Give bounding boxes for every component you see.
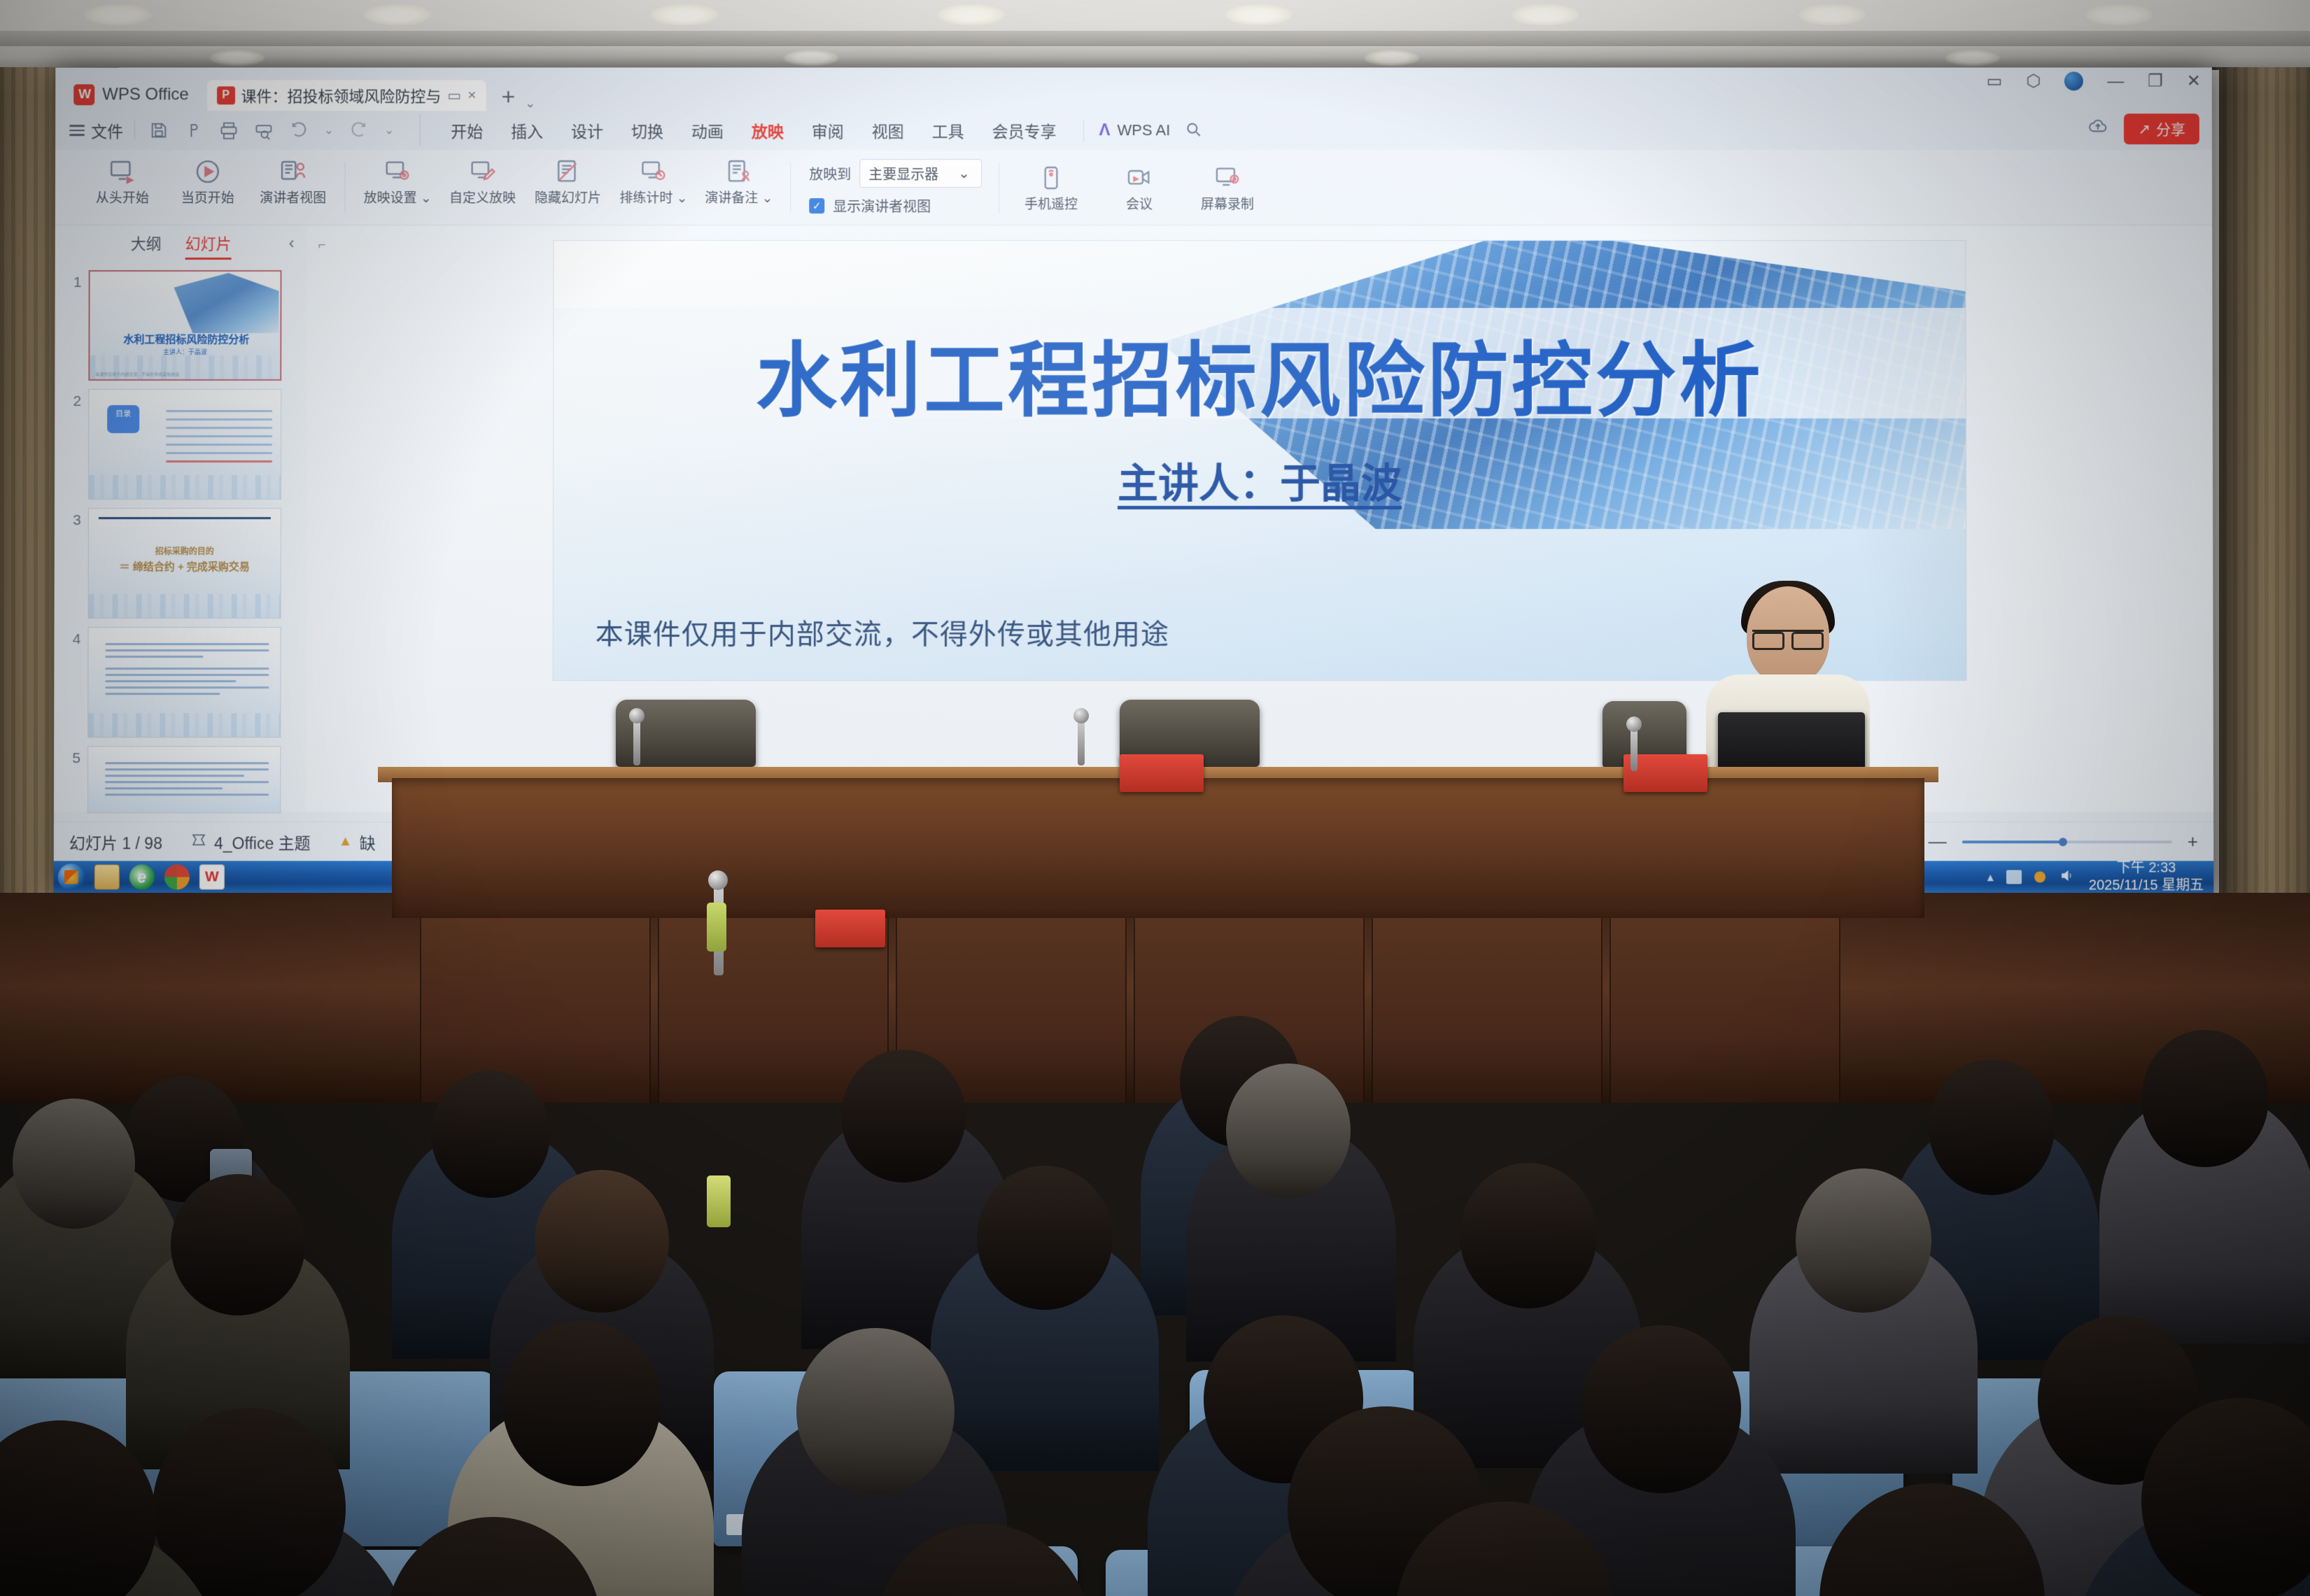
ceiling-light (1512, 4, 1579, 25)
wps-brand: W WPS Office (71, 84, 207, 111)
slide-number: 1 (58, 270, 82, 291)
close-tab-icon[interactable]: × (467, 87, 476, 104)
meeting-label: 会议 (1126, 197, 1153, 212)
zoom-out-button[interactable]: — (1929, 831, 1947, 852)
play-from-start-label: 从头开始 (96, 191, 149, 206)
zoom-in-button[interactable]: + (2188, 831, 2198, 852)
tab-review[interactable]: 审阅 (798, 114, 858, 146)
conference-room-photo: W WPS Office P 课件：招投标领域风险防控与 ▭ × + ⌄ ▭ ⬡… (0, 0, 2310, 1596)
minimize-button[interactable]: — (2107, 73, 2124, 90)
custom-show-button[interactable]: 自定义放映 (449, 155, 516, 206)
thumb-skyline (89, 475, 281, 499)
microphone (1078, 719, 1085, 765)
tab-animation[interactable]: 动画 (677, 114, 738, 146)
cursor-marker-icon: ⌐ (318, 238, 326, 253)
thumb-footer: 本课件仅用于内部交流，不得外传或其他用途 (95, 371, 179, 377)
display-target-select[interactable]: 主要显示器 ⌄ (859, 159, 982, 188)
hide-slide-icon (535, 155, 602, 188)
wps-title-bar: W WPS Office P 课件：招投标领域风险防控与 ▭ × + ⌄ ▭ ⬡… (55, 68, 2212, 111)
qat-caret-icon[interactable]: ⌄ (384, 123, 394, 137)
ceiling-light (651, 4, 718, 25)
tab-slideshow[interactable]: 放映 (738, 114, 798, 146)
hide-slide-label: 隐藏幻灯片 (535, 191, 601, 206)
slide-disclaimer[interactable]: 本课件仅用于内部交流，不得外传或其他用途 (596, 612, 1169, 652)
audience-person-head (841, 1050, 966, 1182)
slide-number: 5 (57, 746, 80, 767)
theme-icon (190, 831, 207, 852)
list-item[interactable]: 5 (54, 742, 306, 817)
document-tab[interactable]: P 课件：招投标领域风险防控与 ▭ × (207, 80, 486, 111)
presenter-view-button[interactable]: 演讲者视图 (260, 155, 327, 206)
tab-member[interactable]: 会员专享 (978, 114, 1071, 146)
window-controls: ▭ ⬡ — ❐ ✕ (1987, 72, 2201, 91)
volume-icon[interactable] (2058, 868, 2076, 887)
tab-design[interactable]: 设计 (557, 114, 617, 146)
display-target-value: 主要显示器 (868, 163, 938, 183)
speaker-notes-button[interactable]: 演讲备注 ⌄ (705, 155, 772, 206)
audience-person-head (431, 1071, 550, 1198)
hide-slide-button[interactable]: 隐藏幻灯片 (534, 155, 601, 206)
chevron-down-icon: ⌄ (958, 164, 970, 182)
tab-start[interactable]: 开始 (437, 114, 497, 146)
ceiling-light (364, 4, 431, 25)
thumb-text-lines (105, 639, 269, 699)
audience-person-head (1460, 1163, 1597, 1308)
share-label: 分享 (2156, 118, 2185, 139)
zoom-slider-fill (1962, 840, 2060, 843)
thumb-text-lines (105, 758, 269, 800)
rehearse-timings-button[interactable]: 排练计时 ⌄ (619, 155, 686, 206)
nameplate (1120, 754, 1204, 792)
360-browser-icon[interactable] (164, 864, 190, 889)
screen-record-icon (1194, 162, 1261, 194)
thumb-title: 水利工程招标风险防控分析 (99, 332, 273, 346)
slide-subtitle[interactable]: 主讲人：于晶波 (554, 451, 1966, 509)
ribbon-group-start: 从头开始 当页开始 (71, 155, 345, 220)
audience-person-head (977, 1166, 1113, 1310)
ceiling-light (938, 4, 1005, 25)
search-icon[interactable] (1184, 120, 1202, 141)
audience-person-head (1796, 1168, 1931, 1313)
presenter-view-label: 演讲者视图 (260, 191, 326, 206)
speaker-notes-icon (705, 155, 772, 188)
display-target-label: 放映到 (809, 163, 851, 183)
ceiling-light (1225, 4, 1292, 25)
microphone (633, 719, 640, 765)
list-item[interactable]: 4 (54, 623, 306, 742)
document-tab-title: 课件：招投标领域风险防控与 (241, 84, 442, 106)
theme-indicator[interactable]: 4_Office 主题 (190, 830, 311, 854)
tab-slides[interactable]: 幻灯片 (185, 232, 232, 254)
play-from-start-icon (89, 155, 156, 188)
presenter-view-checkbox-row[interactable]: ✓ 显示演讲者视图 (809, 195, 982, 216)
undo-icon[interactable] (289, 120, 309, 140)
thumb-contents-icon: 目录 (107, 405, 139, 433)
tab-transition[interactable]: 切换 (617, 114, 677, 146)
audience-person-head (502, 1321, 661, 1486)
audience-area (0, 889, 2310, 1596)
maximize-button[interactable]: ❐ (2148, 73, 2163, 90)
slide-thumbnail-5[interactable] (87, 746, 281, 813)
microphone-head (1073, 708, 1089, 723)
tab-insert[interactable]: 插入 (497, 114, 557, 146)
share-button[interactable]: ↗ 分享 (2124, 113, 2199, 144)
custom-show-label: 自定义放映 (449, 191, 516, 206)
ceiling-light (84, 4, 151, 25)
thumb-line-1: 招标采购的目的 (89, 545, 281, 557)
wps-logo-icon: W (73, 84, 94, 105)
print-preview-icon[interactable] (254, 120, 274, 140)
custom-show-icon (449, 155, 516, 188)
thumb-rule (99, 517, 271, 519)
audience-person-head (1582, 1325, 1741, 1493)
tab-outline[interactable]: 大纲 (131, 232, 162, 254)
audience-person-head (171, 1174, 305, 1315)
play-from-current-label: 当页开始 (181, 191, 234, 206)
ceiling-strip (0, 31, 2310, 46)
slide-number: 2 (57, 389, 81, 410)
microphone-head (1626, 716, 1642, 732)
audience-person-head (13, 1099, 135, 1229)
ceiling-light (784, 50, 838, 66)
spellcheck-indicator[interactable]: ▲ 缺 (339, 830, 376, 854)
speaker-notes-label: 演讲备注 (705, 191, 758, 206)
print-icon[interactable] (219, 120, 239, 140)
slide-counter: 幻灯片 1 / 98 (69, 830, 162, 854)
show-hidden-icons-caret-icon[interactable]: ▴ (1987, 870, 1994, 884)
slide-thumbnail-pane: 大纲 幻灯片 ‹ 1 水利工程招标风险防控分析 主讲人：于晶波 本课件仅用于 (54, 225, 307, 812)
thumbnail-list: 1 水利工程招标风险防控分析 主讲人：于晶波 本课件仅用于内部交流，不得外传或其… (54, 260, 307, 846)
rehearse-timings-label: 排练计时 (619, 191, 672, 206)
cloud-upload-icon[interactable] (2087, 116, 2108, 142)
phone-remote-icon (1017, 162, 1085, 194)
share-icon: ↗ (2138, 120, 2150, 138)
ceiling-light (1365, 50, 1419, 66)
audience-person-head (1226, 1064, 1351, 1198)
thumb-line-2: ＝ 缔结合约 + 完成采购交易 (89, 559, 281, 574)
file-menu-label: 文件 (91, 118, 123, 142)
hamburger-icon (69, 122, 85, 139)
theme-label: 4_Office 主题 (214, 830, 311, 854)
slide-canvas-pane: ⌐ 水利工程招标风险防控分析 主讲人：于晶波 本课件仅用于内部交流，不得外传或其… (306, 225, 2213, 812)
zoom-slider[interactable] (1962, 840, 2172, 843)
phone-remote-button[interactable]: 手机遥控 (1017, 162, 1085, 213)
menubar-right-actions: ↗ 分享 (2087, 113, 2199, 144)
presentation-file-icon: P (217, 86, 235, 104)
list-item[interactable]: 3 招标采购的目的 ＝ 缔结合约 + 完成采购交易 (55, 504, 307, 623)
show-settings-button[interactable]: 放映设置 ⌄ (364, 155, 431, 206)
wps-ai-icon: Λ (1099, 120, 1111, 140)
checkbox-checked-icon: ✓ (809, 198, 824, 213)
ribbon-group-tools: 手机遥控 会议 屏幕录制 (999, 162, 1261, 213)
clock-time: 下午 2:33 (2089, 859, 2204, 877)
thumb-contents-lines (166, 404, 272, 469)
windows-start-icon[interactable] (58, 863, 85, 890)
collapse-pane-icon[interactable]: ‹ (289, 234, 295, 253)
restore-layout-icon[interactable]: ▭ (1987, 73, 2003, 90)
glasses-icon (1752, 630, 1824, 645)
thumb-skyline (88, 713, 280, 737)
cube-icon[interactable]: ⬡ (2026, 73, 2041, 90)
display-target-group: 放映到 主要显示器 ⌄ ✓ 显示演讲者视图 (791, 159, 982, 216)
right-curtain (2212, 67, 2310, 900)
list-item[interactable]: 2 目录 (55, 385, 307, 504)
screen-record-button[interactable]: 屏幕录制 (1194, 162, 1261, 213)
file-menu-button[interactable]: 文件 (69, 118, 134, 142)
screen-record-label: 屏幕录制 (1201, 197, 1254, 212)
slide-number: 4 (57, 627, 80, 648)
show-settings-icon (364, 155, 431, 188)
internet-explorer-icon[interactable]: e (129, 864, 155, 889)
tray-status-icon[interactable] (2034, 871, 2045, 882)
play-from-current-icon (174, 155, 241, 188)
wps-ai-button[interactable]: Λ WPS AI (1083, 120, 1203, 141)
slide-number: 3 (57, 508, 81, 529)
microphone (1631, 728, 1638, 771)
slide-thumbnail-1[interactable]: 水利工程招标风险防控分析 主讲人：于晶波 本课件仅用于内部交流，不得外传或其他用… (88, 270, 281, 381)
file-explorer-icon[interactable] (94, 864, 120, 889)
rehearse-timings-icon (619, 155, 686, 188)
ceiling-light (1798, 4, 1866, 25)
slide-title[interactable]: 水利工程招标风险防控分析 (554, 315, 1966, 432)
meeting-button[interactable]: 会议 (1106, 162, 1173, 213)
wps-taskbar-icon[interactable]: W (199, 864, 225, 889)
new-tab-button[interactable]: + (501, 83, 515, 111)
presenter-view-checkbox-label: 显示演讲者视图 (833, 195, 931, 216)
spellcheck-label: 缺 (360, 830, 376, 854)
ribbon-group-settings: 放映设置 ⌄ 自定义放映 隐藏幻灯片 (346, 155, 791, 220)
tab-view[interactable]: 视图 (858, 114, 918, 146)
thumb-subtitle: 主讲人：于晶波 (90, 347, 280, 356)
audience-person-head (535, 1170, 669, 1313)
save-icon[interactable] (149, 120, 169, 140)
tray-app-icon[interactable] (2006, 870, 2022, 884)
quick-access-toolbar: ⌄ ⌄ (134, 120, 408, 140)
meeting-icon (1106, 162, 1173, 194)
slide-thumbnail-3[interactable]: 招标采购的目的 ＝ 缔结合约 + 完成采购交易 (88, 508, 281, 619)
show-settings-label: 放映设置 (364, 191, 417, 206)
slideshow-ribbon: 从头开始 当页开始 (55, 150, 2212, 225)
globe-icon[interactable] (2064, 72, 2083, 91)
thumbnail-pane-tabs: 大纲 幻灯片 ‹ (55, 225, 307, 260)
audience-person-head (153, 1408, 346, 1596)
play-from-current-button[interactable]: 当页开始 (174, 155, 241, 206)
tab-preview-icon[interactable]: ▭ (447, 87, 461, 104)
list-item[interactable]: 1 水利工程招标风险防控分析 主讲人：于晶波 本课件仅用于内部交流，不得外传或其… (55, 266, 307, 385)
close-window-button[interactable]: ✕ (2187, 73, 2201, 90)
audience-person-head (796, 1328, 955, 1495)
presenter-view-icon (260, 155, 327, 188)
display-target-row: 放映到 主要显示器 ⌄ (809, 159, 982, 188)
audience-person-head (2141, 1030, 2269, 1167)
ceiling-light (2085, 4, 2153, 25)
play-from-start-button[interactable]: 从头开始 (89, 155, 156, 206)
tab-tools[interactable]: 工具 (918, 114, 978, 146)
zoom-slider-handle[interactable] (2059, 838, 2067, 846)
ceiling-light (210, 50, 265, 66)
audience-person-head (1929, 1059, 2055, 1195)
menu-bar: 文件 (55, 111, 2212, 150)
wps-ai-label: WPS AI (1118, 121, 1171, 139)
drink-cup (707, 1175, 731, 1227)
ribbon-tabs: 开始 插入 设计 切换 动画 放映 审阅 视图 工具 会员专享 (419, 114, 1070, 146)
thumb-skyline (89, 594, 281, 618)
slide-thumbnail-2[interactable]: 目录 (88, 389, 281, 500)
export-pdf-icon[interactable] (184, 120, 204, 140)
redo-icon[interactable] (349, 120, 369, 140)
phone-remote-label: 手机遥控 (1024, 197, 1078, 212)
tab-list-caret-icon[interactable]: ⌄ (525, 96, 535, 111)
undo-caret-icon[interactable]: ⌄ (324, 123, 334, 137)
wps-brand-label: WPS Office (102, 85, 189, 104)
ceiling-light (1945, 50, 2000, 66)
microphone-head (629, 708, 645, 723)
warning-icon: ▲ (339, 833, 353, 849)
microphone-head (708, 870, 728, 890)
slide-thumbnail-4[interactable] (87, 627, 281, 737)
